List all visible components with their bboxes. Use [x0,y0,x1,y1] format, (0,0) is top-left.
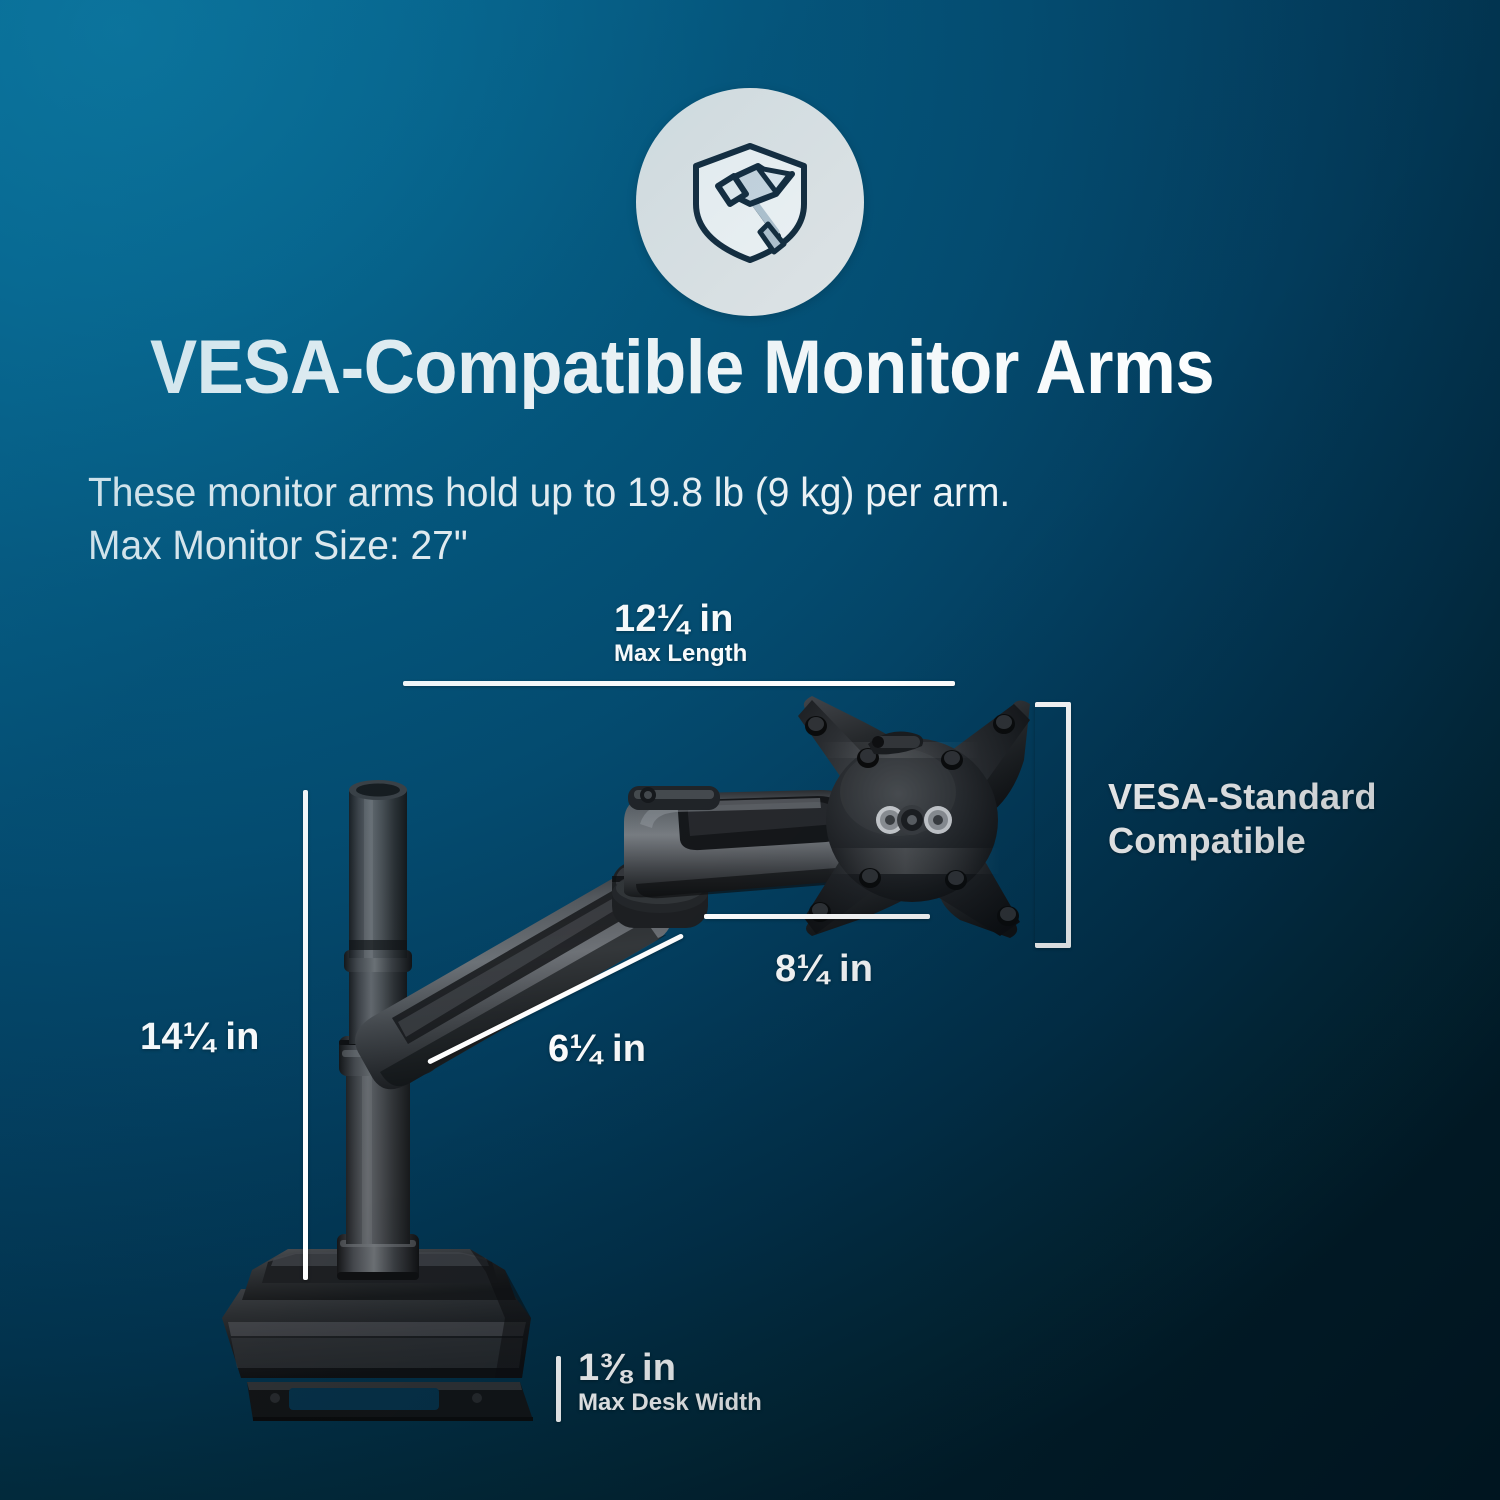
height-measure-line [303,790,308,1280]
callout-vesa-standard: VESA-Standard Compatible [1108,775,1377,863]
desk-width-measure-line [556,1356,561,1422]
callout-depth: 8¼ in [775,950,873,990]
callout-height: 14¼ in [140,1018,260,1058]
vesa-center-screws [876,805,952,835]
arm-swivel-cap [628,786,720,810]
callout-depth-value: 8¼ in [775,950,873,990]
callout-max-length: 12¼ in Max Length [614,600,747,667]
subtitle-line-2: Max Monitor Size: 27" [88,519,1228,572]
callout-desk-width-value: 1⅜ in [578,1349,762,1389]
callout-vesa-line-1: VESA-Standard [1108,775,1377,819]
shield-hammer-badge [636,88,864,316]
page-title: VESA-Compatible Monitor Arms [150,330,1322,406]
callout-arm-length: 6¼ in [548,1030,646,1070]
vesa-mounting-plate [798,696,1030,938]
max-length-measure-line [403,681,955,686]
shield-hammer-icon [680,132,820,272]
page-subtitle: These monitor arms hold up to 19.8 lb (9… [88,466,1228,573]
callout-desk-width-label: Max Desk Width [578,1389,762,1417]
callout-height-value: 14¼ in [140,1018,260,1058]
callout-desk-width: 1⅜ in Max Desk Width [578,1349,762,1416]
callout-arm-length-value: 6¼ in [548,1030,646,1070]
vesa-measure-bracket [1035,702,1071,948]
desk-clamp-plate [247,1382,533,1421]
callout-max-length-label: Max Length [614,640,747,668]
depth-measure-line [704,914,930,919]
callout-vesa-line-2: Compatible [1108,819,1377,863]
subtitle-line-1: These monitor arms hold up to 19.8 lb (9… [88,466,1228,519]
infographic-canvas: VESA-Compatible Monitor Arms These monit… [0,0,1500,1500]
callout-max-length-value: 12¼ in [614,600,747,640]
